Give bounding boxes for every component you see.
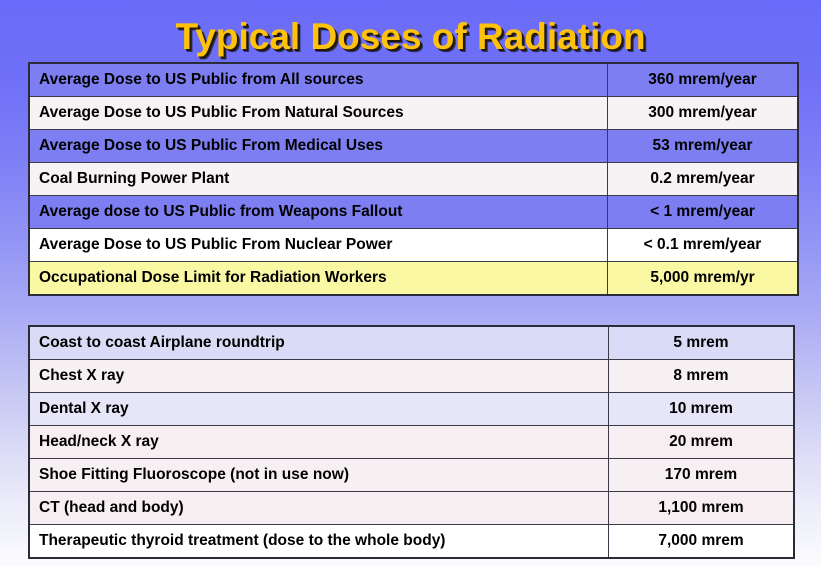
table-row: Average Dose to US Public From Nuclear P…: [29, 229, 798, 262]
dose-value: < 0.1 mrem/year: [608, 229, 799, 262]
table-row: Average dose to US Public from Weapons F…: [29, 196, 798, 229]
dose-value: 5,000 mrem/yr: [608, 262, 799, 296]
annual-dose-table: Average Dose to US Public from All sourc…: [28, 62, 799, 296]
procedure-dose-value: 5 mrem: [609, 326, 795, 360]
table-row: Chest X ray 8 mrem: [29, 360, 794, 393]
procedure-label: Chest X ray: [29, 360, 609, 393]
table-row: CT (head and body) 1,100 mrem: [29, 492, 794, 525]
dose-source-label: Average dose to US Public from Weapons F…: [29, 196, 608, 229]
procedure-dose-value: 8 mrem: [609, 360, 795, 393]
procedure-label: CT (head and body): [29, 492, 609, 525]
table-row: Average Dose to US Public From Medical U…: [29, 130, 798, 163]
dose-source-label: Occupational Dose Limit for Radiation Wo…: [29, 262, 608, 296]
table-row: Therapeutic thyroid treatment (dose to t…: [29, 525, 794, 559]
dose-source-label: Average Dose to US Public From Natural S…: [29, 97, 608, 130]
procedure-label: Head/neck X ray: [29, 426, 609, 459]
table-row: Coast to coast Airplane roundtrip 5 mrem: [29, 326, 794, 360]
procedure-dose-value: 7,000 mrem: [609, 525, 795, 559]
dose-value: 360 mrem/year: [608, 63, 799, 97]
table-row: Shoe Fitting Fluoroscope (not in use now…: [29, 459, 794, 492]
table-row: Head/neck X ray 20 mrem: [29, 426, 794, 459]
procedure-dose-value: 170 mrem: [609, 459, 795, 492]
procedure-label: Therapeutic thyroid treatment (dose to t…: [29, 525, 609, 559]
procedure-dose-value: 1,100 mrem: [609, 492, 795, 525]
procedure-dose-value: 10 mrem: [609, 393, 795, 426]
page-title: Typical Doses of Radiation: [0, 16, 821, 58]
table-row: Average Dose to US Public From Natural S…: [29, 97, 798, 130]
procedure-dose-value: 20 mrem: [609, 426, 795, 459]
procedure-dose-table: Coast to coast Airplane roundtrip 5 mrem…: [28, 325, 795, 559]
dose-source-label: Coal Burning Power Plant: [29, 163, 608, 196]
dose-value: < 1 mrem/year: [608, 196, 799, 229]
table-row: Dental X ray 10 mrem: [29, 393, 794, 426]
dose-value: 300 mrem/year: [608, 97, 799, 130]
dose-source-label: Average Dose to US Public from All sourc…: [29, 63, 608, 97]
table-row: Average Dose to US Public from All sourc…: [29, 63, 798, 97]
dose-source-label: Average Dose to US Public From Medical U…: [29, 130, 608, 163]
table-row: Coal Burning Power Plant 0.2 mrem/year: [29, 163, 798, 196]
dose-source-label: Average Dose to US Public From Nuclear P…: [29, 229, 608, 262]
procedure-label: Coast to coast Airplane roundtrip: [29, 326, 609, 360]
dose-value: 53 mrem/year: [608, 130, 799, 163]
table-row-highlighted: Occupational Dose Limit for Radiation Wo…: [29, 262, 798, 296]
procedure-label: Shoe Fitting Fluoroscope (not in use now…: [29, 459, 609, 492]
procedure-label: Dental X ray: [29, 393, 609, 426]
slide-canvas: Typical Doses of Radiation Average Dose …: [0, 0, 821, 567]
dose-value: 0.2 mrem/year: [608, 163, 799, 196]
